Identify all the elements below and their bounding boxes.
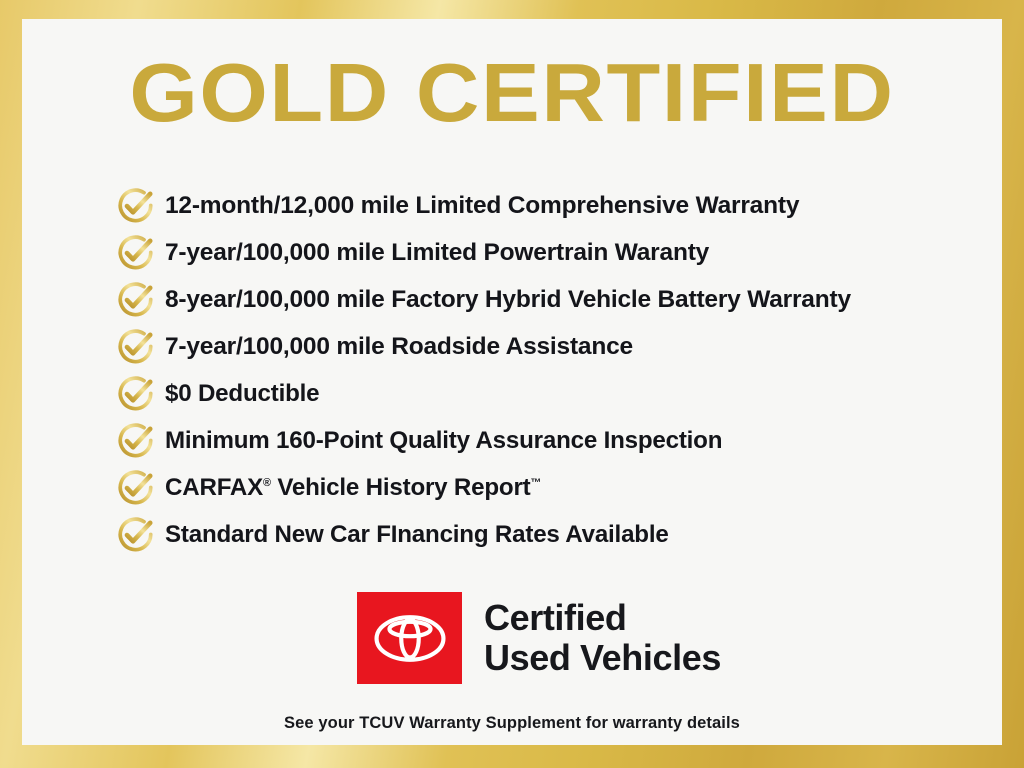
check-circle-icon: [114, 184, 157, 227]
footnote-text: See your TCUV Warranty Supplement for wa…: [22, 714, 1002, 733]
tcuv-line-2: Used Vehicles: [484, 638, 721, 678]
list-item-label: 7-year/100,000 mile Limited Powertrain W…: [165, 240, 709, 266]
carfax-brand: CARFAX: [165, 474, 263, 501]
list-item-label: Standard New Car FInancing Rates Availab…: [165, 522, 669, 548]
check-circle-icon: [114, 419, 157, 462]
list-item-label: 8-year/100,000 mile Factory Hybrid Vehic…: [165, 287, 851, 313]
check-circle-icon: [114, 325, 157, 368]
check-circle-icon: [114, 466, 157, 509]
toyota-emblem-icon: [357, 592, 462, 684]
list-item: 8-year/100,000 mile Factory Hybrid Vehic…: [114, 276, 984, 323]
carfax-middle: Vehicle History Report: [271, 474, 531, 501]
check-circle-icon: [114, 372, 157, 415]
check-circle-icon: [114, 231, 157, 274]
check-circle-icon: [114, 513, 157, 556]
list-item-label-carfax: CARFAX® Vehicle History Report™: [165, 475, 541, 501]
tcuv-line-1: Certified: [484, 598, 721, 638]
list-item: Standard New Car FInancing Rates Availab…: [114, 511, 984, 558]
list-item-label: 12-month/12,000 mile Limited Comprehensi…: [165, 193, 799, 219]
trademark-mark: ™: [530, 476, 541, 488]
list-item-label: 7-year/100,000 mile Roadside Assistance: [165, 334, 633, 360]
list-item: 7-year/100,000 mile Limited Powertrain W…: [114, 229, 984, 276]
tcuv-wordmark: Certified Used Vehicles: [484, 598, 721, 678]
tcuv-logo-lockup: Certified Used Vehicles: [357, 592, 721, 684]
list-item: CARFAX® Vehicle History Report™: [114, 464, 984, 511]
feature-list: 12-month/12,000 mile Limited Comprehensi…: [114, 182, 984, 558]
list-item: 7-year/100,000 mile Roadside Assistance: [114, 323, 984, 370]
list-item: $0 Deductible: [114, 370, 984, 417]
list-item-label: $0 Deductible: [165, 381, 319, 407]
list-item: 12-month/12,000 mile Limited Comprehensi…: [114, 182, 984, 229]
list-item: Minimum 160-Point Quality Assurance Insp…: [114, 417, 984, 464]
poster-card: GOLD CERTIFIED: [22, 19, 1002, 745]
gold-certified-poster: GOLD CERTIFIED: [0, 0, 1024, 768]
list-item-label: Minimum 160-Point Quality Assurance Insp…: [165, 428, 722, 454]
check-circle-icon: [114, 278, 157, 321]
page-title: GOLD CERTIFIED: [22, 49, 1002, 137]
